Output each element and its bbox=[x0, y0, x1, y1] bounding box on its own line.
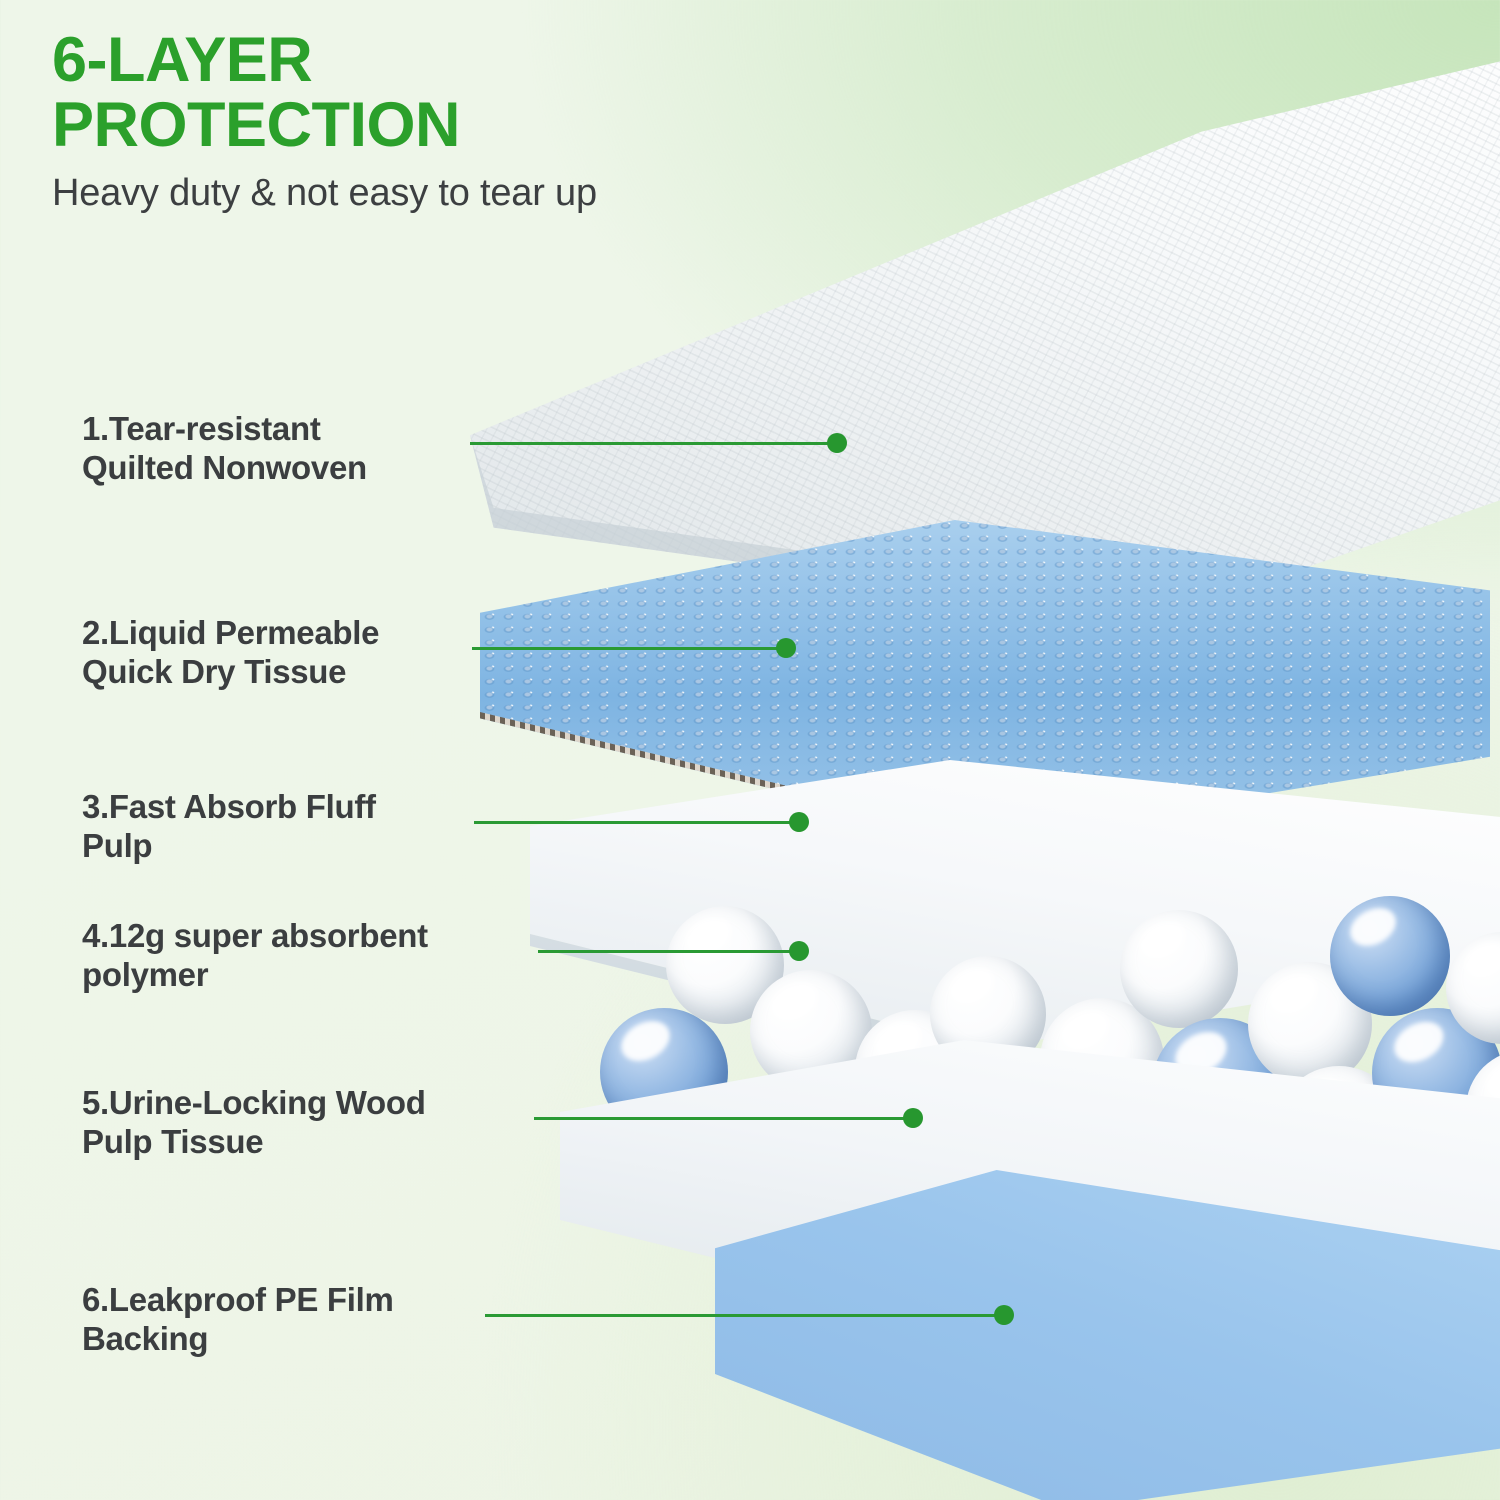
leader-dot-6 bbox=[994, 1305, 1014, 1325]
leader-dot-4 bbox=[789, 941, 809, 961]
layer-label-3: 3.Fast Absorb Fluff Pulp bbox=[82, 788, 376, 865]
layer-label-2: 2.Liquid Permeable Quick Dry Tissue bbox=[82, 614, 379, 691]
layer-diagram bbox=[0, 0, 1500, 1500]
leader-dot-3 bbox=[789, 812, 809, 832]
polymer-bead bbox=[1330, 896, 1450, 1016]
layer-label-4: 4.12g super absorbent polymer bbox=[82, 917, 428, 994]
leader-dot-1 bbox=[827, 433, 847, 453]
page-subtitle: Heavy duty & not easy to tear up bbox=[52, 172, 812, 215]
leader-line-1 bbox=[470, 442, 836, 445]
layer-label-5: 5.Urine-Locking Wood Pulp Tissue bbox=[82, 1084, 426, 1161]
leader-line-2 bbox=[472, 647, 785, 650]
leader-line-6 bbox=[485, 1314, 1003, 1317]
leader-line-3 bbox=[474, 821, 798, 824]
header: 6-LAYERPROTECTION Heavy duty & not easy … bbox=[52, 28, 812, 215]
layer-label-1: 1.Tear-resistant Quilted Nonwoven bbox=[82, 410, 367, 487]
leader-dot-5 bbox=[903, 1108, 923, 1128]
leader-line-5 bbox=[534, 1117, 912, 1120]
leader-dot-2 bbox=[776, 638, 796, 658]
leader-line-4 bbox=[538, 950, 798, 953]
page-title: 6-LAYERPROTECTION bbox=[52, 28, 812, 158]
polymer-bead bbox=[1120, 910, 1238, 1028]
layer-label-6: 6.Leakproof PE Film Backing bbox=[82, 1281, 394, 1358]
